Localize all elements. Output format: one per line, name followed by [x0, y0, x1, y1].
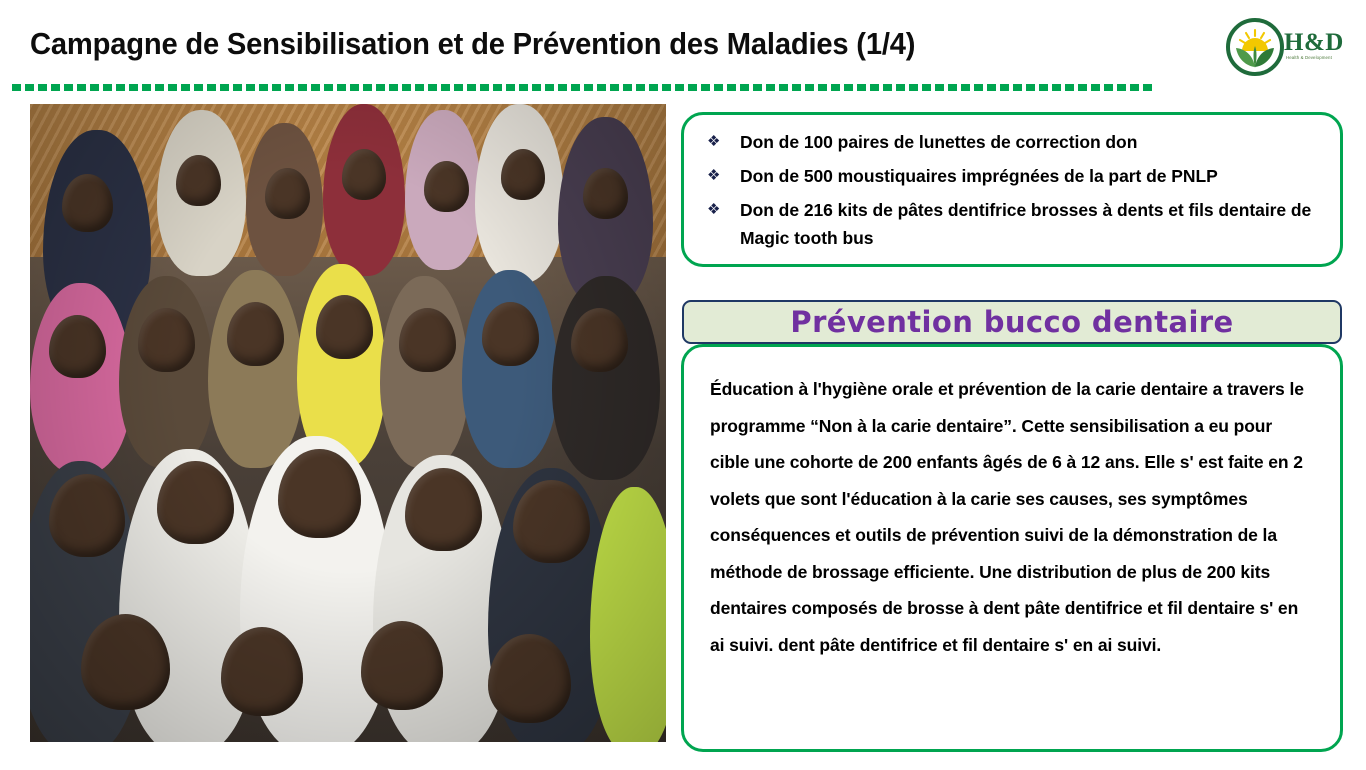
logo-emblem-icon	[1226, 18, 1284, 76]
campaign-photo	[30, 104, 666, 742]
slide-header: Campagne de Sensibilisation et de Préven…	[0, 0, 1366, 92]
section-title-bar: Prévention bucco dentaire	[682, 300, 1342, 344]
description-card: Éducation à l'hygiène orale et préventio…	[681, 344, 1343, 752]
section-title-label: Prévention bucco dentaire	[790, 308, 1233, 337]
donation-item-label: Don de 100 paires de lunettes de correct…	[740, 128, 1322, 156]
brand-logo: H&D Health & Development	[1226, 18, 1348, 80]
photo-vignette	[30, 104, 666, 742]
logo-tagline: Health & Development	[1286, 55, 1332, 60]
diamond-bullet-icon: ❖	[702, 196, 740, 224]
photo-canvas	[30, 104, 666, 742]
donation-item-label: Don de 500 moustiquaires imprégnées de l…	[740, 162, 1322, 190]
diamond-bullet-icon: ❖	[702, 162, 740, 190]
list-item: ❖ Don de 216 kits de pâtes dentifrice br…	[702, 196, 1322, 252]
page-title: Campagne de Sensibilisation et de Préven…	[30, 26, 915, 62]
logo-wordmark: H&D	[1284, 30, 1344, 55]
description-body-text: Éducation à l'hygiène orale et préventio…	[684, 347, 1340, 663]
donations-card: ❖ Don de 100 paires de lunettes de corre…	[681, 112, 1343, 267]
diamond-bullet-icon: ❖	[702, 128, 740, 156]
title-divider	[12, 84, 1154, 91]
list-item: ❖ Don de 100 paires de lunettes de corre…	[702, 128, 1322, 156]
donations-list: ❖ Don de 100 paires de lunettes de corre…	[684, 115, 1340, 252]
list-item: ❖ Don de 500 moustiquaires imprégnées de…	[702, 162, 1322, 190]
donation-item-label: Don de 216 kits de pâtes dentifrice bros…	[740, 196, 1322, 252]
